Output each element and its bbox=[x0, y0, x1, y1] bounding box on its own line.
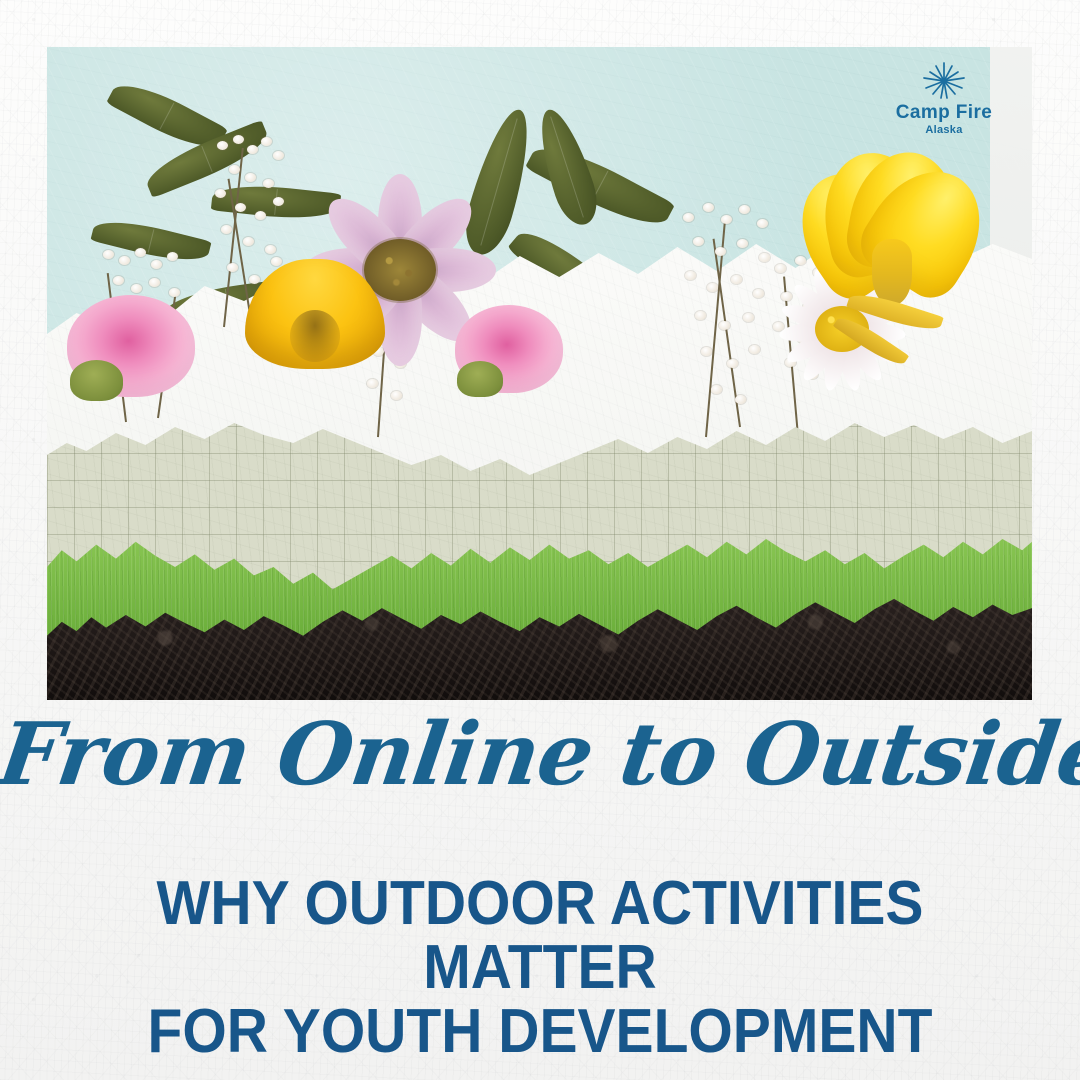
subtitle-headline: WHY OUTDOOR ACTIVITIES MATTER FOR YOUTH … bbox=[43, 872, 1037, 1064]
poster-canvas: Camp Fire Alaska From Online to Outside:… bbox=[0, 0, 1080, 1080]
primrose-sepal bbox=[847, 302, 943, 324]
pink-rose-flower bbox=[67, 295, 195, 397]
logo-region: Alaska bbox=[884, 124, 1004, 136]
yellow-poppy-flower bbox=[245, 259, 385, 369]
olive-leaf bbox=[547, 107, 587, 227]
camp-fire-logo: Camp Fire Alaska bbox=[884, 61, 1004, 136]
primrose-sepal bbox=[831, 332, 911, 352]
subtitle-line-2: FOR YOUTH DEVELOPMENT bbox=[43, 1000, 1037, 1064]
subtitle-line-1: WHY OUTDOOR ACTIVITIES MATTER bbox=[43, 872, 1037, 1000]
collage-image: Camp Fire Alaska bbox=[47, 47, 1032, 700]
script-headline: From Online to Outside: bbox=[0, 712, 1080, 798]
logo-name: Camp Fire bbox=[884, 103, 1004, 122]
starburst-icon bbox=[921, 61, 967, 101]
pink-rose-flower bbox=[455, 305, 563, 393]
yellow-primrose-flower bbox=[777, 109, 1007, 309]
